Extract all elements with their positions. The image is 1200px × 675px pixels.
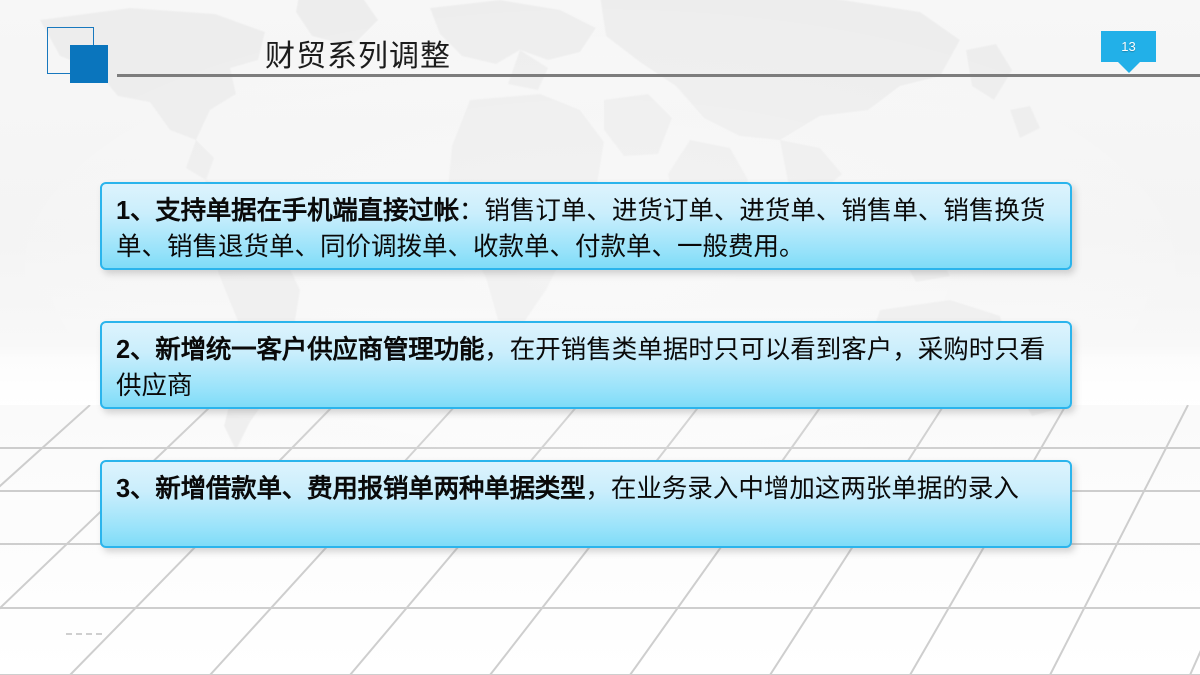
content-box-1[interactable]: 1、支持单据在手机端直接过帐：销售订单、进货订单、进货单、销售单、销售换货单、销… xyxy=(100,182,1072,270)
slide-canvas: 财贸系列调整 13 1、支持单据在手机端直接过帐：销售订单、进货订单、进货单、销… xyxy=(0,0,1200,675)
page-number-label: 13 xyxy=(1121,39,1135,54)
filled-square-icon xyxy=(70,45,108,83)
title-divider xyxy=(117,74,1200,77)
content-box-2-bold: 2、新增统一客户供应商管理功能 xyxy=(116,336,484,364)
content-box-2[interactable]: 2、新增统一客户供应商管理功能，在开销售类单据时只可以看到客户，采购时只看供应商 xyxy=(100,321,1072,409)
content-box-3[interactable]: 3、新增借款单、费用报销单两种单据类型，在业务录入中增加这两张单据的录入 xyxy=(100,460,1072,548)
content-box-3-rest: ，在业务录入中增加这两张单据的录入 xyxy=(585,475,1019,503)
grid-tick-mark xyxy=(66,633,102,635)
content-box-1-bold: 1、支持单据在手机端直接过帐 xyxy=(116,197,459,225)
page-title: 财贸系列调整 xyxy=(265,40,451,73)
content-box-3-bold: 3、新增借款单、费用报销单两种单据类型 xyxy=(116,475,585,503)
page-number-badge: 13 xyxy=(1101,31,1156,62)
